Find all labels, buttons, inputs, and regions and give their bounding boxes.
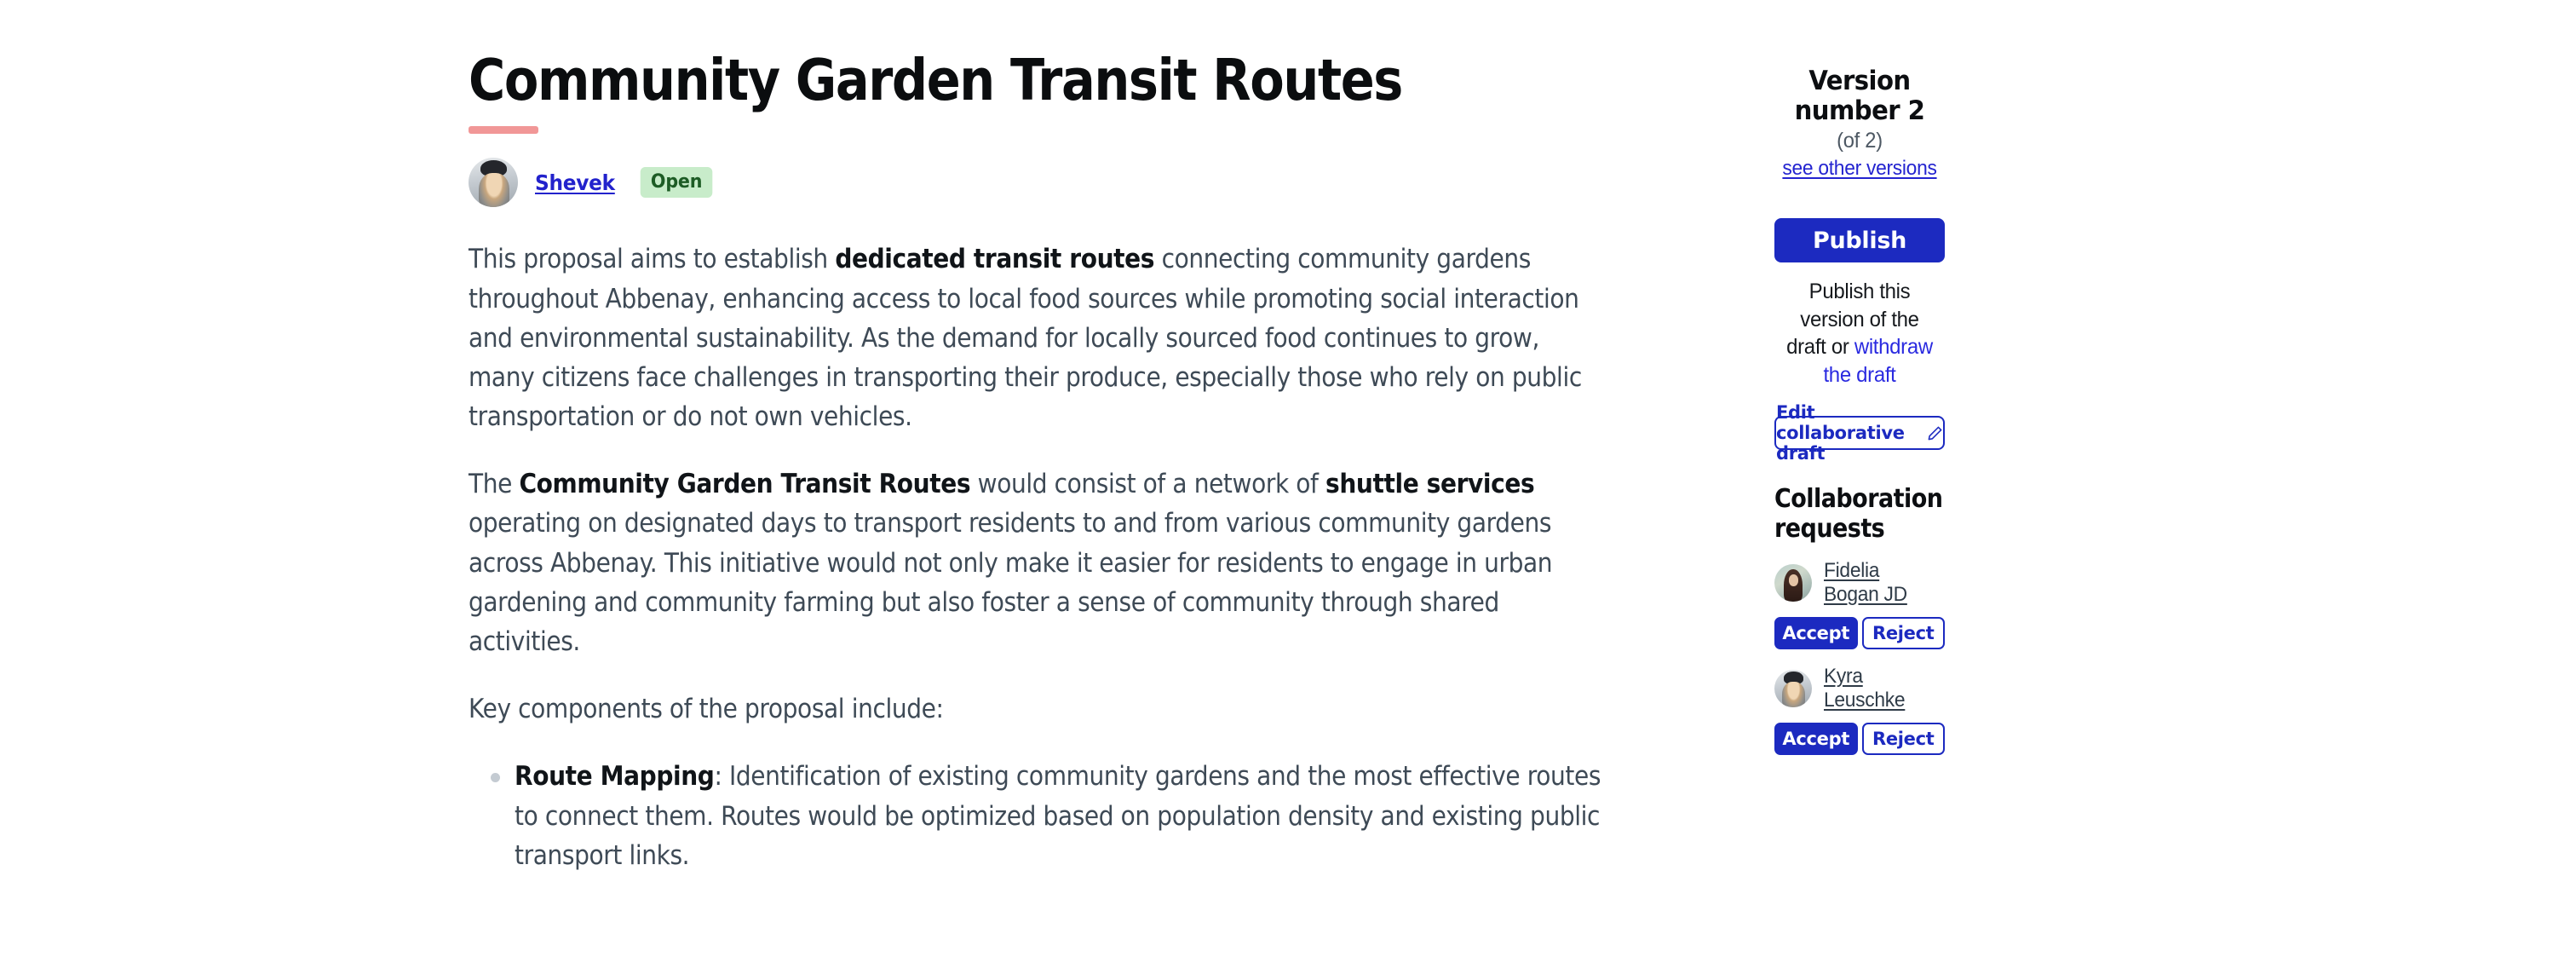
page-title: Community Garden Transit Routes (469, 0, 1481, 111)
edit-collaborative-draft-label: Edit collaborative draft (1776, 402, 1919, 464)
bullet-text: Route Mapping: Identification of existin… (515, 757, 1610, 875)
page-root: Community Garden Transit Routes Shevek O… (0, 0, 2576, 980)
see-other-versions-link[interactable]: see other versions (1779, 157, 1941, 181)
version-count-label: (of 2) (1779, 129, 1941, 153)
list-item: Route Mapping: Identification of existin… (469, 757, 1610, 875)
accept-button[interactable]: Accept (1774, 617, 1858, 649)
avatar-fidelia (1774, 564, 1812, 602)
version-title: Version number 2 (1780, 0, 1940, 125)
paragraph-2: The Community Garden Transit Routes woul… (469, 464, 1610, 661)
request-actions: Accept Reject (1774, 617, 1945, 649)
avatar-kyra (1774, 670, 1812, 707)
collaboration-requests-heading: Collaboration requests (1774, 484, 1928, 544)
bullet-dot-icon (491, 773, 500, 782)
status-badge: Open (641, 167, 713, 198)
edit-collaborative-draft-button[interactable]: Edit collaborative draft (1774, 416, 1945, 450)
requester-name-link[interactable]: Kyra Leuschke (1824, 665, 1939, 712)
reject-button[interactable]: Reject (1862, 723, 1946, 755)
collaboration-request-item: Fidelia Bogan JD Accept Reject (1774, 559, 1945, 649)
document-main-column: Community Garden Transit Routes Shevek O… (469, 0, 1619, 894)
pencil-icon (1927, 425, 1943, 441)
sidebar: Version number 2 (of 2) see other versio… (1774, 0, 1945, 755)
requester-row: Kyra Leuschke (1774, 665, 1945, 712)
publish-help-text: Publish this version of the draft or wit… (1778, 278, 1941, 389)
reject-button[interactable]: Reject (1862, 617, 1946, 649)
requester-row: Fidelia Bogan JD (1774, 559, 1945, 607)
request-actions: Accept Reject (1774, 723, 1945, 755)
accept-button[interactable]: Accept (1774, 723, 1858, 755)
paragraph-3: Key components of the proposal include: (469, 689, 1610, 729)
document-body: This proposal aims to establish dedicate… (469, 239, 1610, 875)
author-link[interactable]: Shevek (535, 170, 615, 195)
publish-button[interactable]: Publish (1774, 218, 1945, 262)
title-accent-bar (469, 126, 538, 134)
avatar-shevek (469, 158, 518, 207)
collaboration-request-item: Kyra Leuschke Accept Reject (1774, 665, 1945, 755)
author-row: Shevek Open (469, 158, 1619, 207)
key-components-list: Route Mapping: Identification of existin… (469, 757, 1610, 875)
paragraph-1: This proposal aims to establish dedicate… (469, 239, 1610, 436)
requester-name-link[interactable]: Fidelia Bogan JD (1824, 559, 1939, 607)
